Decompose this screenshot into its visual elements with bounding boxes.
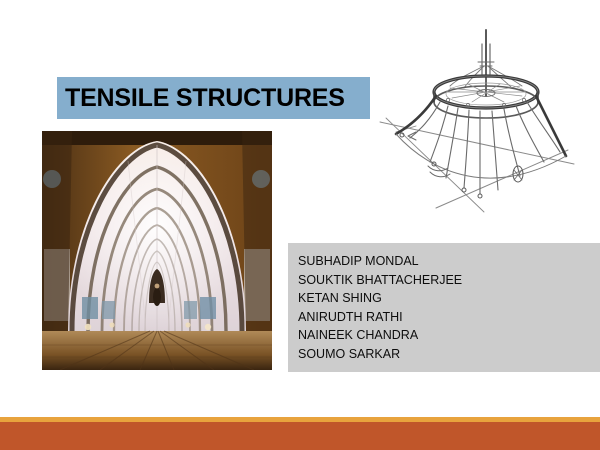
- author-name: SUBHADIP MONDAL: [298, 252, 600, 271]
- authors-panel: SUBHADIP MONDAL SOUKTIK BHATTACHERJEE KE…: [288, 243, 600, 372]
- author-name: NAINEEK CHANDRA: [298, 326, 600, 345]
- author-name: ANIRUDTH RATHI: [298, 308, 600, 327]
- tensile-canopy-sketch: [372, 22, 588, 227]
- archway-photo-graphic: [42, 131, 272, 370]
- author-name: SOUKTIK BHATTACHERJEE: [298, 271, 600, 290]
- author-name: KETAN SHING: [298, 289, 600, 308]
- presentation-slide: TENSILE STRUCTURES: [0, 0, 600, 450]
- footer-band: [0, 422, 600, 450]
- tensile-canopy-sketch-graphic: [372, 22, 588, 227]
- archway-photo: [42, 131, 272, 370]
- page-title: TENSILE STRUCTURES: [57, 84, 345, 113]
- title-band: TENSILE STRUCTURES: [57, 77, 370, 119]
- author-name: SOUMO SARKAR: [298, 345, 600, 364]
